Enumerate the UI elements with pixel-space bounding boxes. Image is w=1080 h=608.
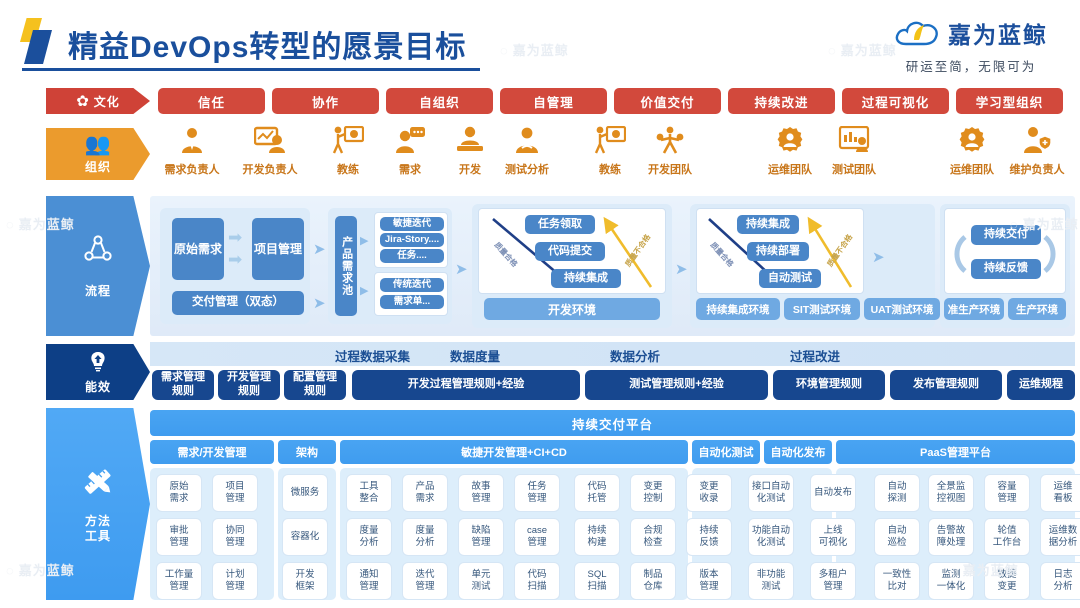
process-band: 原始需求 项目管理 ➡ ➡ 交付管理（双态） ➤ ➤ 产品需求池 ▶ ▶ 敏捷迭…	[150, 196, 1075, 336]
tool-chip[interactable]: 敏捷变更	[984, 562, 1030, 600]
page-title: 精益DevOps转型的愿景目标	[68, 22, 466, 66]
team-icon	[638, 126, 702, 159]
org-role[interactable]: 需求	[378, 126, 442, 177]
org-role[interactable]: 测试分析	[495, 126, 559, 177]
row-label-text: 文化	[94, 93, 120, 110]
tool-chip[interactable]: 合规检查	[630, 518, 676, 556]
org-role[interactable]: 开发负责人	[238, 126, 302, 177]
tool-chip[interactable]: 版本管理	[686, 562, 732, 600]
org-role[interactable]: 维护负责人	[1005, 126, 1069, 177]
tool-chip[interactable]: 持续反馈	[686, 518, 732, 556]
org-role-label: 测试团队	[822, 161, 886, 177]
brand-tagline: 研运至简，无限可为	[894, 56, 1048, 75]
tool-chip[interactable]: 制品仓库	[630, 562, 676, 600]
monitor-person-icon	[238, 126, 302, 159]
tool-chip[interactable]: 容器化	[282, 518, 328, 556]
tool-chip[interactable]: 迭代管理	[402, 562, 448, 600]
tool-chip[interactable]: 告警故障处理	[928, 518, 974, 556]
row-label-text: 流程	[85, 282, 111, 299]
process-step[interactable]: 持续部署	[747, 242, 809, 261]
capability-chip[interactable]: PaaS管理平台	[836, 440, 1075, 464]
process-step[interactable]: 代码提交	[535, 242, 605, 261]
environment-chip[interactable]: UAT测试环境	[864, 298, 940, 320]
environment-chip[interactable]: 准生产环境	[944, 298, 1004, 320]
culture-chip[interactable]: 价值交付	[614, 88, 721, 114]
efficiency-rule-chip[interactable]: 运维规程	[1007, 370, 1075, 400]
org-role[interactable]: 教练	[578, 126, 642, 177]
tool-chip[interactable]: 度量分析	[402, 518, 448, 556]
tool-chip[interactable]: 协同管理	[212, 518, 258, 556]
tool-chip[interactable]: 自动发布	[810, 474, 856, 512]
organization-role-list: 需求负责人开发负责人教练需求开发测试分析教练开发团队运维团队测试团队运维团队维护…	[150, 126, 1075, 184]
tool-chip[interactable]: 监测一体化	[928, 562, 974, 600]
org-role-label: 开发	[438, 161, 502, 177]
culture-chip[interactable]: 学习型组织	[956, 88, 1063, 114]
process-step[interactable]: 持续集成	[551, 269, 621, 288]
process-ci-loop: 质量合格 质量不合格 持续集成 持续部署 自动测试	[696, 208, 864, 294]
culture-chip[interactable]: 协作	[272, 88, 379, 114]
efficiency-phase-label: 过程改进	[790, 346, 840, 365]
tool-chip[interactable]: 一致性比对	[874, 562, 920, 600]
culture-chip[interactable]: 持续改进	[728, 88, 835, 114]
person-shield-icon	[1005, 126, 1069, 159]
tool-chip[interactable]: 运维看板	[1040, 474, 1080, 512]
tool-chip[interactable]: 通知管理	[346, 562, 392, 600]
chart-person-icon	[822, 126, 886, 159]
org-role[interactable]: 开发团队	[638, 126, 702, 177]
org-role-label: 运维团队	[940, 161, 1004, 177]
efficiency-rule-chip[interactable]: 配置管理规则	[284, 370, 346, 400]
process-step[interactable]: 任务领取	[525, 215, 595, 234]
tool-chip[interactable]: 原始需求	[156, 474, 202, 512]
tool-chip[interactable]: 多租户管理	[810, 562, 856, 600]
tool-chip[interactable]: 代码扫描	[514, 562, 560, 600]
bulb-arrow-icon	[87, 350, 109, 375]
person-laptop-icon	[438, 126, 502, 159]
process-nodes-icon	[83, 234, 113, 268]
coach-board-icon	[316, 126, 380, 159]
culture-chip-list: 信任 协作 自组织 自管理 价值交付 持续改进 过程可视化 学习型组织	[158, 88, 1063, 114]
row-label-text: 组织	[85, 158, 111, 175]
efficiency-rule-chip[interactable]: 需求管理规则	[152, 370, 214, 400]
traditional-item[interactable]: 传统迭代	[380, 278, 444, 292]
process-step[interactable]: 持续集成	[737, 215, 799, 234]
efficiency-phase-label: 过程数据采集	[335, 346, 410, 365]
capability-chip[interactable]: 架构	[278, 440, 336, 464]
row-label-text: 能效	[85, 378, 111, 395]
org-role[interactable]: 需求负责人	[160, 126, 224, 177]
org-role-label: 开发负责人	[238, 161, 302, 177]
tool-chip[interactable]: 功能自动化测试	[748, 518, 794, 556]
tool-chip[interactable]: 工具整合	[346, 474, 392, 512]
agile-item[interactable]: 任务....	[380, 249, 444, 263]
environment-chip[interactable]: 生产环境	[1008, 298, 1066, 320]
org-role-label: 需求	[378, 161, 442, 177]
flower-icon: ✿	[76, 94, 89, 109]
tool-chip[interactable]: 故事管理	[458, 474, 504, 512]
tool-chip[interactable]: 上线可视化	[810, 518, 856, 556]
process-dev-loop: 质量合格 质量不合格 任务领取 代码提交 持续集成	[478, 208, 666, 294]
process-traditional-box: 传统迭代 需求单...	[374, 272, 448, 316]
gear-person-icon	[940, 126, 1004, 159]
tool-chip[interactable]: 轮值工作台	[984, 518, 1030, 556]
org-role-label: 教练	[578, 161, 642, 177]
process-box-project-mgmt[interactable]: 项目管理	[252, 218, 304, 280]
org-role-label: 需求负责人	[160, 161, 224, 177]
tool-chip[interactable]: 度量分析	[346, 518, 392, 556]
org-role[interactable]: 运维团队	[940, 126, 1004, 177]
tool-chip[interactable]: 任务管理	[514, 474, 560, 512]
tool-chip[interactable]: 全景监控视图	[928, 474, 974, 512]
gear-person-icon	[758, 126, 822, 159]
tool-chip[interactable]: 容量管理	[984, 474, 1030, 512]
culture-chip[interactable]: 信任	[158, 88, 265, 114]
people-icon: 👥	[85, 134, 111, 155]
capability-chip[interactable]: 敏捷开发管理+CI+CD	[340, 440, 688, 464]
org-role[interactable]: 测试团队	[822, 126, 886, 177]
process-step[interactable]: 持续交付	[971, 225, 1041, 245]
tool-chip[interactable]: 接口自动化测试	[748, 474, 794, 512]
page-header: 精益DevOps转型的愿景目标 嘉为蓝鲸 研运至简，无限可为	[0, 0, 1080, 80]
tool-chip[interactable]: 非功能测试	[748, 562, 794, 600]
process-step[interactable]: 持续反馈	[971, 259, 1041, 279]
tool-chip[interactable]: 日志分析	[1040, 562, 1080, 600]
row-label-culture: ✿ 文化	[46, 88, 150, 114]
tool-chip[interactable]: 缺陷管理	[458, 518, 504, 556]
row-label-text: 方法工具	[85, 514, 111, 544]
capability-chip[interactable]: 需求/开发管理	[150, 440, 274, 464]
capability-chip[interactable]: 自动化发布	[764, 440, 832, 464]
coach-board-icon	[578, 126, 642, 159]
tool-chip[interactable]: 计划管理	[212, 562, 258, 600]
agile-item[interactable]: 敏捷迭代	[380, 217, 444, 231]
brand-block: 嘉为蓝鲸 研运至简，无限可为	[894, 16, 1048, 75]
org-role-label: 维护负责人	[1005, 161, 1069, 177]
platform-band: 持续交付平台	[150, 410, 1075, 436]
row-label-tools: 方法工具	[46, 408, 150, 600]
efficiency-rule-chip[interactable]: 发布管理规则	[890, 370, 1002, 400]
org-role-label: 教练	[316, 161, 380, 177]
process-box-raw-demand[interactable]: 原始需求	[172, 218, 224, 280]
tool-chip[interactable]: SQL扫描	[574, 562, 620, 600]
tool-chip[interactable]: 单元测试	[458, 562, 504, 600]
environment-chip[interactable]: 开发环境	[484, 298, 660, 320]
tool-chip[interactable]: 开发框架	[282, 562, 328, 600]
title-underline	[22, 68, 480, 71]
tool-chip[interactable]: 工作量管理	[156, 562, 202, 600]
process-cd-loop: 持续交付 持续反馈	[944, 208, 1066, 294]
row-label-process: 流程	[46, 196, 150, 336]
efficiency-rule-chip[interactable]: 开发管理规则	[218, 370, 280, 400]
org-role[interactable]: 开发	[438, 126, 502, 177]
org-role[interactable]: 教练	[316, 126, 380, 177]
tool-chip[interactable]: 变更控制	[630, 474, 676, 512]
tool-chip[interactable]: 产品需求	[402, 474, 448, 512]
person-tie-icon	[160, 126, 224, 159]
tool-chip[interactable]: 审批管理	[156, 518, 202, 556]
process-agile-box: 敏捷迭代 Jira-Story.... 任务....	[374, 212, 448, 268]
culture-chip[interactable]: 过程可视化	[842, 88, 949, 114]
process-step[interactable]: 自动测试	[759, 269, 821, 288]
row-label-organization: 👥 组织	[46, 128, 150, 180]
row-label-efficiency: 能效	[46, 344, 150, 400]
org-role-label: 测试分析	[495, 161, 559, 177]
capability-chip[interactable]: 自动化测试	[692, 440, 760, 464]
company-logo-icon	[18, 18, 60, 64]
ruler-pencil-icon	[81, 465, 115, 504]
efficiency-rule-chip[interactable]: 开发过程管理规则+经验	[352, 370, 580, 400]
efficiency-rule-chip[interactable]: 环境管理规则	[773, 370, 885, 400]
environment-chip[interactable]: 持续集成环境	[696, 298, 780, 320]
tool-chip[interactable]: 自动巡检	[874, 518, 920, 556]
process-box-delivery-mgmt[interactable]: 交付管理（双态）	[172, 291, 304, 315]
org-role[interactable]: 运维团队	[758, 126, 822, 177]
traditional-item[interactable]: 需求单...	[380, 295, 444, 309]
efficiency-rule-chip[interactable]: 测试管理规则+经验	[585, 370, 768, 400]
efficiency-phase-label: 数据度量	[450, 346, 500, 365]
person-chat-icon	[378, 126, 442, 159]
environment-chip[interactable]: SIT测试环境	[784, 298, 860, 320]
tool-chip[interactable]: 代码托管	[574, 474, 620, 512]
tool-chip[interactable]: 运维数据分析	[1040, 518, 1080, 556]
tool-chip[interactable]: 微服务	[282, 474, 328, 512]
person-gear-icon	[495, 126, 559, 159]
cloud-icon	[894, 18, 940, 48]
tool-chip[interactable]: 项目管理	[212, 474, 258, 512]
culture-chip[interactable]: 自管理	[500, 88, 607, 114]
tool-chip[interactable]: 变更收录	[686, 474, 732, 512]
org-role-label: 开发团队	[638, 161, 702, 177]
tool-chip[interactable]: case管理	[514, 518, 560, 556]
org-role-label: 运维团队	[758, 161, 822, 177]
tool-chip[interactable]: 自动探测	[874, 474, 920, 512]
process-box-demand-pool[interactable]: 产品需求池	[335, 216, 357, 316]
efficiency-phase-label: 数据分析	[610, 346, 660, 365]
agile-item[interactable]: Jira-Story....	[380, 233, 444, 247]
tool-chip[interactable]: 持续构建	[574, 518, 620, 556]
culture-chip[interactable]: 自组织	[386, 88, 493, 114]
brand-name: 嘉为蓝鲸	[948, 16, 1048, 50]
